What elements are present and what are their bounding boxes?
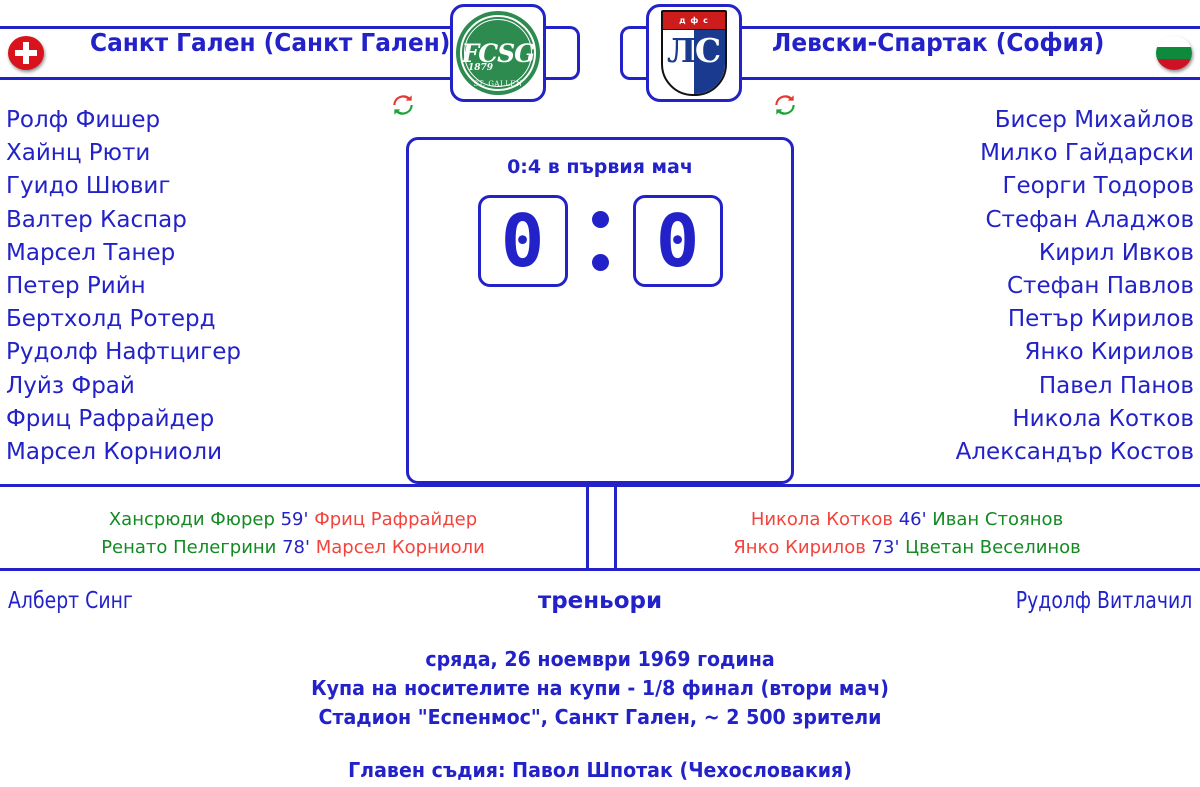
- list-item[interactable]: Кирил Ивков: [956, 237, 1194, 270]
- list-item[interactable]: Павел Панов: [956, 370, 1194, 403]
- bulgaria-flag-icon: [1156, 36, 1192, 70]
- score-separator-icon: [592, 211, 609, 271]
- list-item[interactable]: Стефан Аладжов: [956, 204, 1194, 237]
- levski-spartak-logo-icon: д ф с Л С: [661, 10, 727, 96]
- away-team-name[interactable]: Левски-Спартак (София): [772, 28, 1104, 57]
- list-item[interactable]: Петер Рийн: [6, 270, 241, 303]
- substitution-row[interactable]: Хансрюди Фюрер 59' Фриц Рафрайдер: [0, 506, 586, 534]
- subs-bottom-rule: [0, 568, 1200, 571]
- list-item[interactable]: Гуидо Шювиг: [6, 170, 241, 203]
- match-lineup-sheet: Санкт Гален (Санкт Гален) Левски-Спартак…: [0, 0, 1200, 787]
- home-lineup-list: Ролф Фишер Хайнц Рюти Гуидо Шювиг Валтер…: [6, 104, 241, 469]
- list-item[interactable]: Никола Котков: [956, 403, 1194, 436]
- crest-letter-left: Л: [667, 34, 695, 67]
- crest-mono-bottom: SG: [497, 39, 534, 68]
- sub-player-in: Цветан Веселинов: [905, 537, 1081, 558]
- list-item[interactable]: Георги Тодоров: [956, 170, 1194, 203]
- sub-minute: 73': [872, 537, 900, 558]
- list-item[interactable]: Милко Гайдарски: [956, 137, 1194, 170]
- list-item[interactable]: Фриц Рафрайдер: [6, 403, 241, 436]
- fcsg-logo-icon: FCSG 1879 ST. GALLEN: [456, 11, 540, 95]
- list-item[interactable]: Петър Кирилов: [956, 303, 1194, 336]
- list-item[interactable]: Марсел Корниоли: [6, 436, 241, 469]
- scoreboard-panel: 0:4 в първия мач 0 0: [406, 137, 794, 484]
- away-score-box: 0: [633, 195, 723, 287]
- score-digits: 0 0: [409, 195, 791, 287]
- home-score-box: 0: [478, 195, 568, 287]
- list-item[interactable]: Валтер Каспар: [6, 204, 241, 237]
- away-score-value: 0: [656, 205, 699, 277]
- subs-divider-left: [586, 484, 589, 570]
- home-substitution-swap-icon[interactable]: [390, 92, 416, 118]
- match-date: сряда, 26 ноември 1969 година: [30, 645, 1170, 674]
- sub-player-out: Фриц Рафрайдер: [314, 509, 477, 530]
- crest-town: ST. GALLEN: [456, 80, 540, 88]
- away-coach-name[interactable]: Рудолф Витлачил: [1015, 588, 1192, 614]
- home-team-crest[interactable]: FCSG 1879 ST. GALLEN: [450, 4, 546, 102]
- substitution-row[interactable]: Янко Кирилов 73' Цветан Веселинов: [614, 534, 1200, 562]
- subs-top-rule: [0, 484, 1200, 487]
- away-substitutions: Никола Котков 46' Иван Стоянов Янко Кири…: [614, 506, 1200, 562]
- sub-minute: 78': [282, 537, 310, 558]
- competition-round: Купа на носителите на купи - 1/8 финал (…: [30, 674, 1170, 703]
- sub-player-in: Иван Стоянов: [932, 509, 1063, 530]
- away-lineup-list: Бисер Михайлов Милко Гайдарски Георги То…: [956, 104, 1194, 469]
- crest-year: 1879: [468, 63, 493, 73]
- list-item[interactable]: Бисер Михайлов: [956, 104, 1194, 137]
- home-score-value: 0: [501, 205, 544, 277]
- list-item[interactable]: Марсел Танер: [6, 237, 241, 270]
- list-item[interactable]: Рудолф Нафтцигер: [6, 336, 241, 369]
- away-substitution-swap-icon[interactable]: [772, 92, 798, 118]
- match-info-footer: сряда, 26 ноември 1969 година Купа на но…: [0, 645, 1200, 782]
- away-team-crest[interactable]: д ф с Л С: [646, 4, 742, 102]
- list-item[interactable]: Луйз Фрай: [6, 370, 241, 403]
- list-item[interactable]: Хайнц Рюти: [6, 137, 241, 170]
- switzerland-flag-icon: [8, 36, 44, 70]
- sub-player-out: Марсел Корниоли: [316, 537, 485, 558]
- sub-player-in: Ренато Пелегрини: [101, 537, 276, 558]
- list-item[interactable]: Ролф Фишер: [6, 104, 241, 137]
- venue-attendance: Стадион "Еспенмос", Санкт Гален, ~ 2 500…: [30, 703, 1170, 732]
- list-item[interactable]: Бертхолд Ротерд: [6, 303, 241, 336]
- home-team-name[interactable]: Санкт Гален (Санкт Гален): [90, 28, 450, 57]
- sub-minute: 46': [899, 509, 927, 530]
- home-substitutions: Хансрюди Фюрер 59' Фриц Рафрайдер Ренато…: [0, 506, 586, 562]
- list-item[interactable]: Александър Костов: [956, 436, 1194, 469]
- aggregate-note: 0:4 в първия мач: [409, 156, 791, 178]
- referee-line: Главен съдия: Павол Шпотак (Чехословакия…: [30, 758, 1170, 782]
- sub-minute: 59': [281, 509, 309, 530]
- list-item[interactable]: Стефан Павлов: [956, 270, 1194, 303]
- sub-player-out: Никола Котков: [751, 509, 893, 530]
- crest-letter-right: С: [694, 34, 722, 67]
- substitution-row[interactable]: Никола Котков 46' Иван Стоянов: [614, 506, 1200, 534]
- sub-player-in: Хансрюди Фюрер: [109, 509, 275, 530]
- crest-band-text: д ф с: [663, 12, 725, 30]
- list-item[interactable]: Янко Кирилов: [956, 336, 1194, 369]
- substitution-row[interactable]: Ренато Пелегрини 78' Марсел Корниоли: [0, 534, 586, 562]
- sub-player-out: Янко Кирилов: [733, 537, 866, 558]
